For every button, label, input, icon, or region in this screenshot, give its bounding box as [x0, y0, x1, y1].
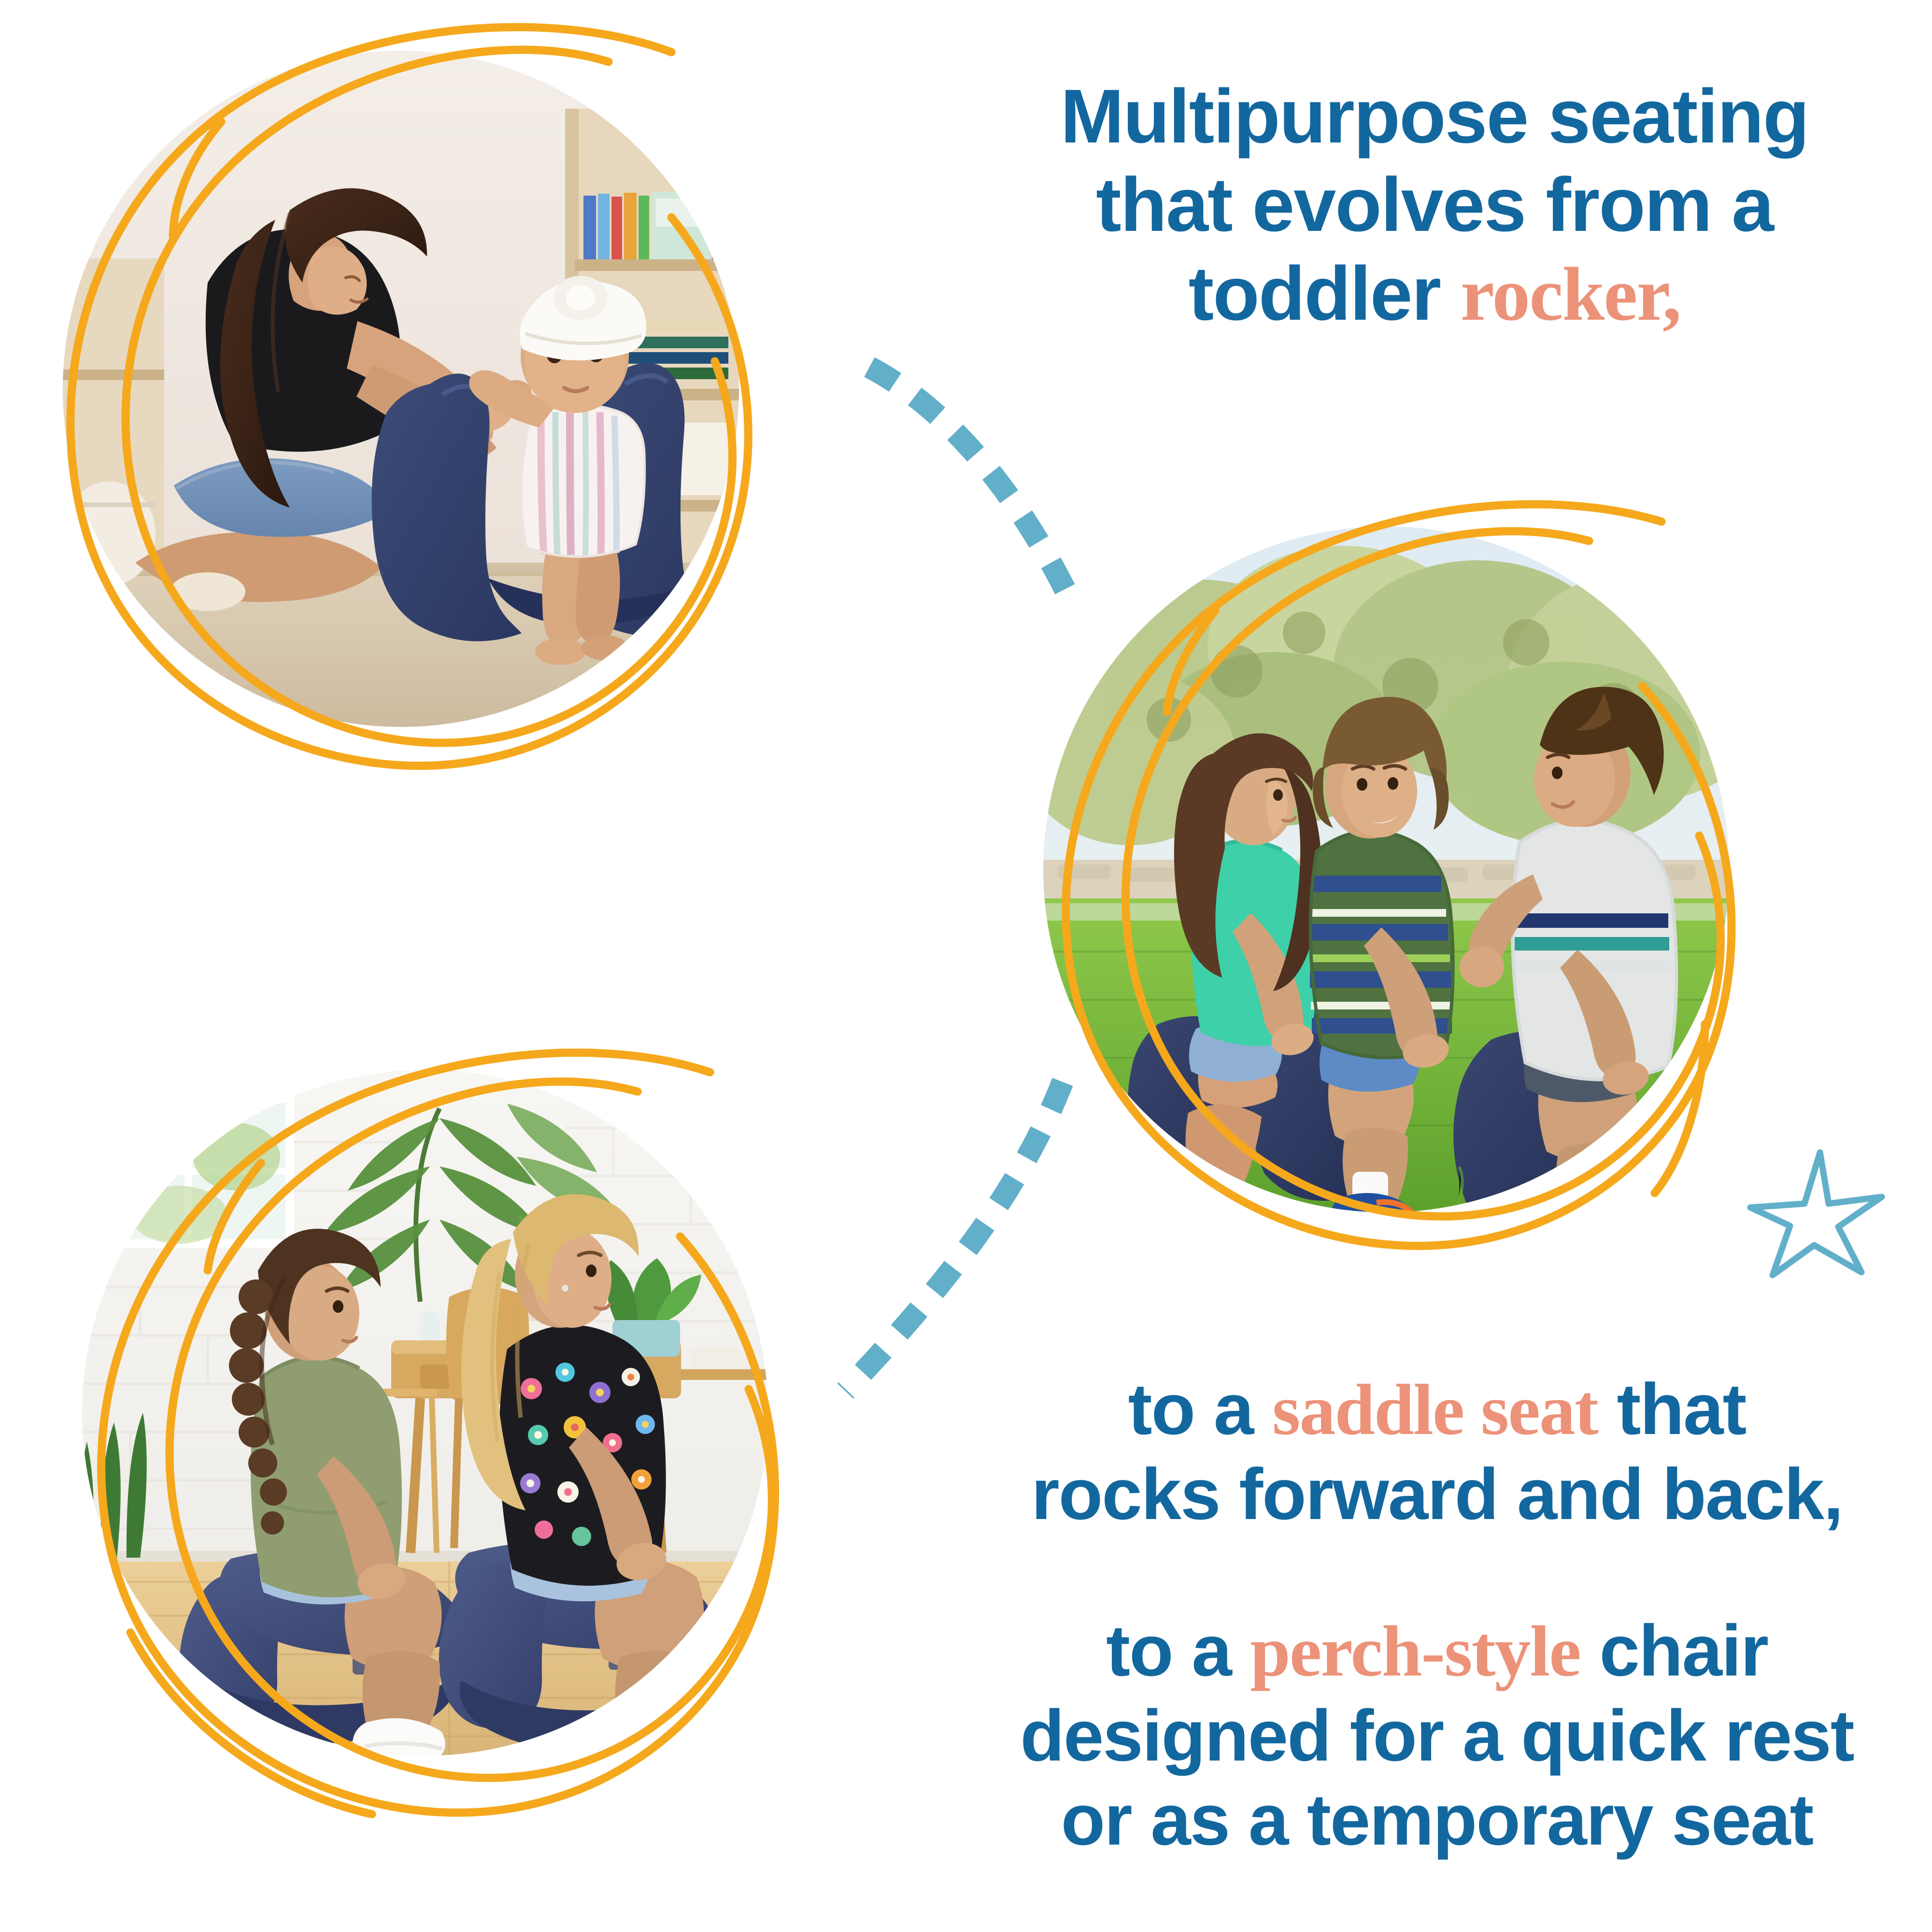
saddle-line-2: rocks forward and back, — [995, 1452, 1879, 1536]
headline-accent-rocker: rocker, — [1461, 252, 1681, 337]
headline: Multipurpose seating that evolves from a… — [995, 72, 1874, 339]
photo-outdoor-saddle-seats — [1043, 526, 1729, 1212]
infographic-canvas: Multipurpose seating that evolves from a… — [0, 0, 1932, 1932]
saddle-line-1: to a saddle seat that — [995, 1367, 1879, 1452]
perch-line-1-plain-b: chair — [1580, 1610, 1768, 1691]
perch-line-3: or as a temporary seat — [985, 1777, 1889, 1861]
paragraph-saddle-seat: to a saddle seat that rocks forward and … — [995, 1367, 1879, 1536]
saddle-line-1-plain-a: to a — [1128, 1368, 1272, 1449]
photo-toddler-rocker — [63, 51, 739, 727]
perch-line-1-plain-a: to a — [1106, 1610, 1250, 1691]
headline-line-3-plain: toddler — [1189, 251, 1461, 336]
photo-toddler-artwork — [63, 51, 739, 727]
perch-accent-phrase: perch-style — [1250, 1611, 1580, 1691]
star-icon — [1739, 1135, 1893, 1290]
headline-line-2: that evolves from a — [995, 161, 1874, 249]
perch-line-2: designed for a quick rest — [985, 1693, 1889, 1777]
photo-girls-perch-chairs — [82, 1070, 768, 1756]
perch-line-1: to a perch-style chair — [985, 1608, 1889, 1693]
photo-girls-artwork — [82, 1070, 768, 1756]
headline-line-1: Multipurpose seating — [995, 72, 1874, 161]
saddle-accent-phrase: saddle seat — [1272, 1370, 1598, 1450]
saddle-line-1-plain-b: that — [1598, 1368, 1746, 1449]
headline-line-3: toddler rocker, — [995, 250, 1874, 339]
photo-outdoor-artwork — [1043, 526, 1729, 1212]
paragraph-perch-style: to a perch-style chair designed for a qu… — [985, 1608, 1889, 1861]
